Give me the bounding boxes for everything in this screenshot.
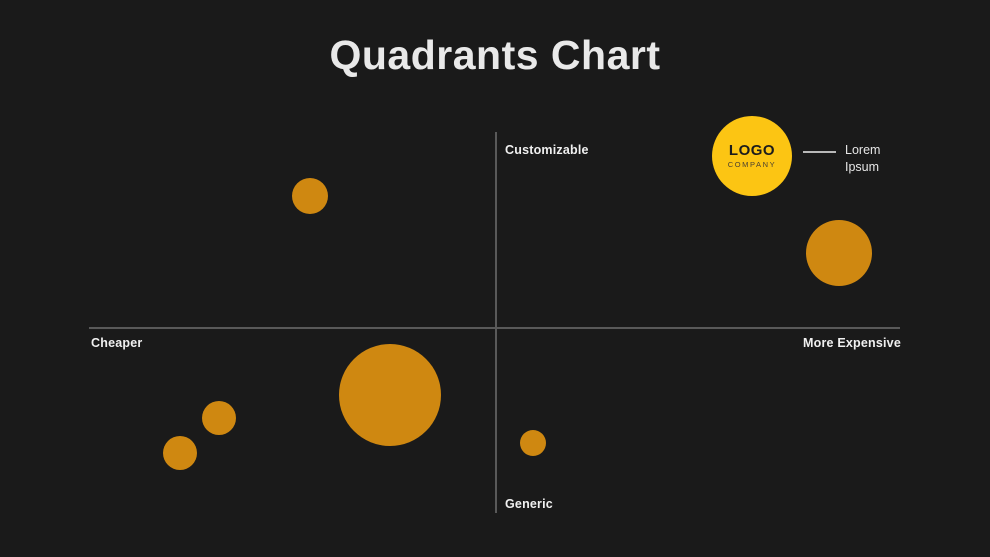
quadrants-chart-slide: Quadrants Chart Customizable Generic Che… bbox=[0, 0, 990, 557]
chart-bubble[interactable] bbox=[292, 178, 328, 214]
chart-bubble[interactable] bbox=[806, 220, 872, 286]
logo-caption-line-2: Ipsum bbox=[845, 159, 880, 176]
logo-caption-line-1: Lorem bbox=[845, 142, 880, 159]
chart-bubble[interactable] bbox=[202, 401, 236, 435]
logo-bubble[interactable]: LOGO COMPANY bbox=[712, 116, 792, 196]
logo-caption: Lorem Ipsum bbox=[845, 142, 880, 176]
logo-main-text: LOGO bbox=[729, 143, 775, 158]
axis-label-generic: Generic bbox=[505, 497, 553, 511]
chart-bubble[interactable] bbox=[520, 430, 546, 456]
axis-label-more-expensive: More Expensive bbox=[803, 336, 901, 350]
axis-label-customizable: Customizable bbox=[505, 143, 589, 157]
axis-label-cheaper: Cheaper bbox=[91, 336, 142, 350]
logo-connector-line bbox=[803, 151, 836, 153]
chart-bubble[interactable] bbox=[163, 436, 197, 470]
page-title: Quadrants Chart bbox=[0, 32, 990, 79]
vertical-axis bbox=[495, 132, 497, 513]
chart-bubble[interactable] bbox=[339, 344, 441, 446]
logo-sub-text: COMPANY bbox=[728, 161, 777, 169]
